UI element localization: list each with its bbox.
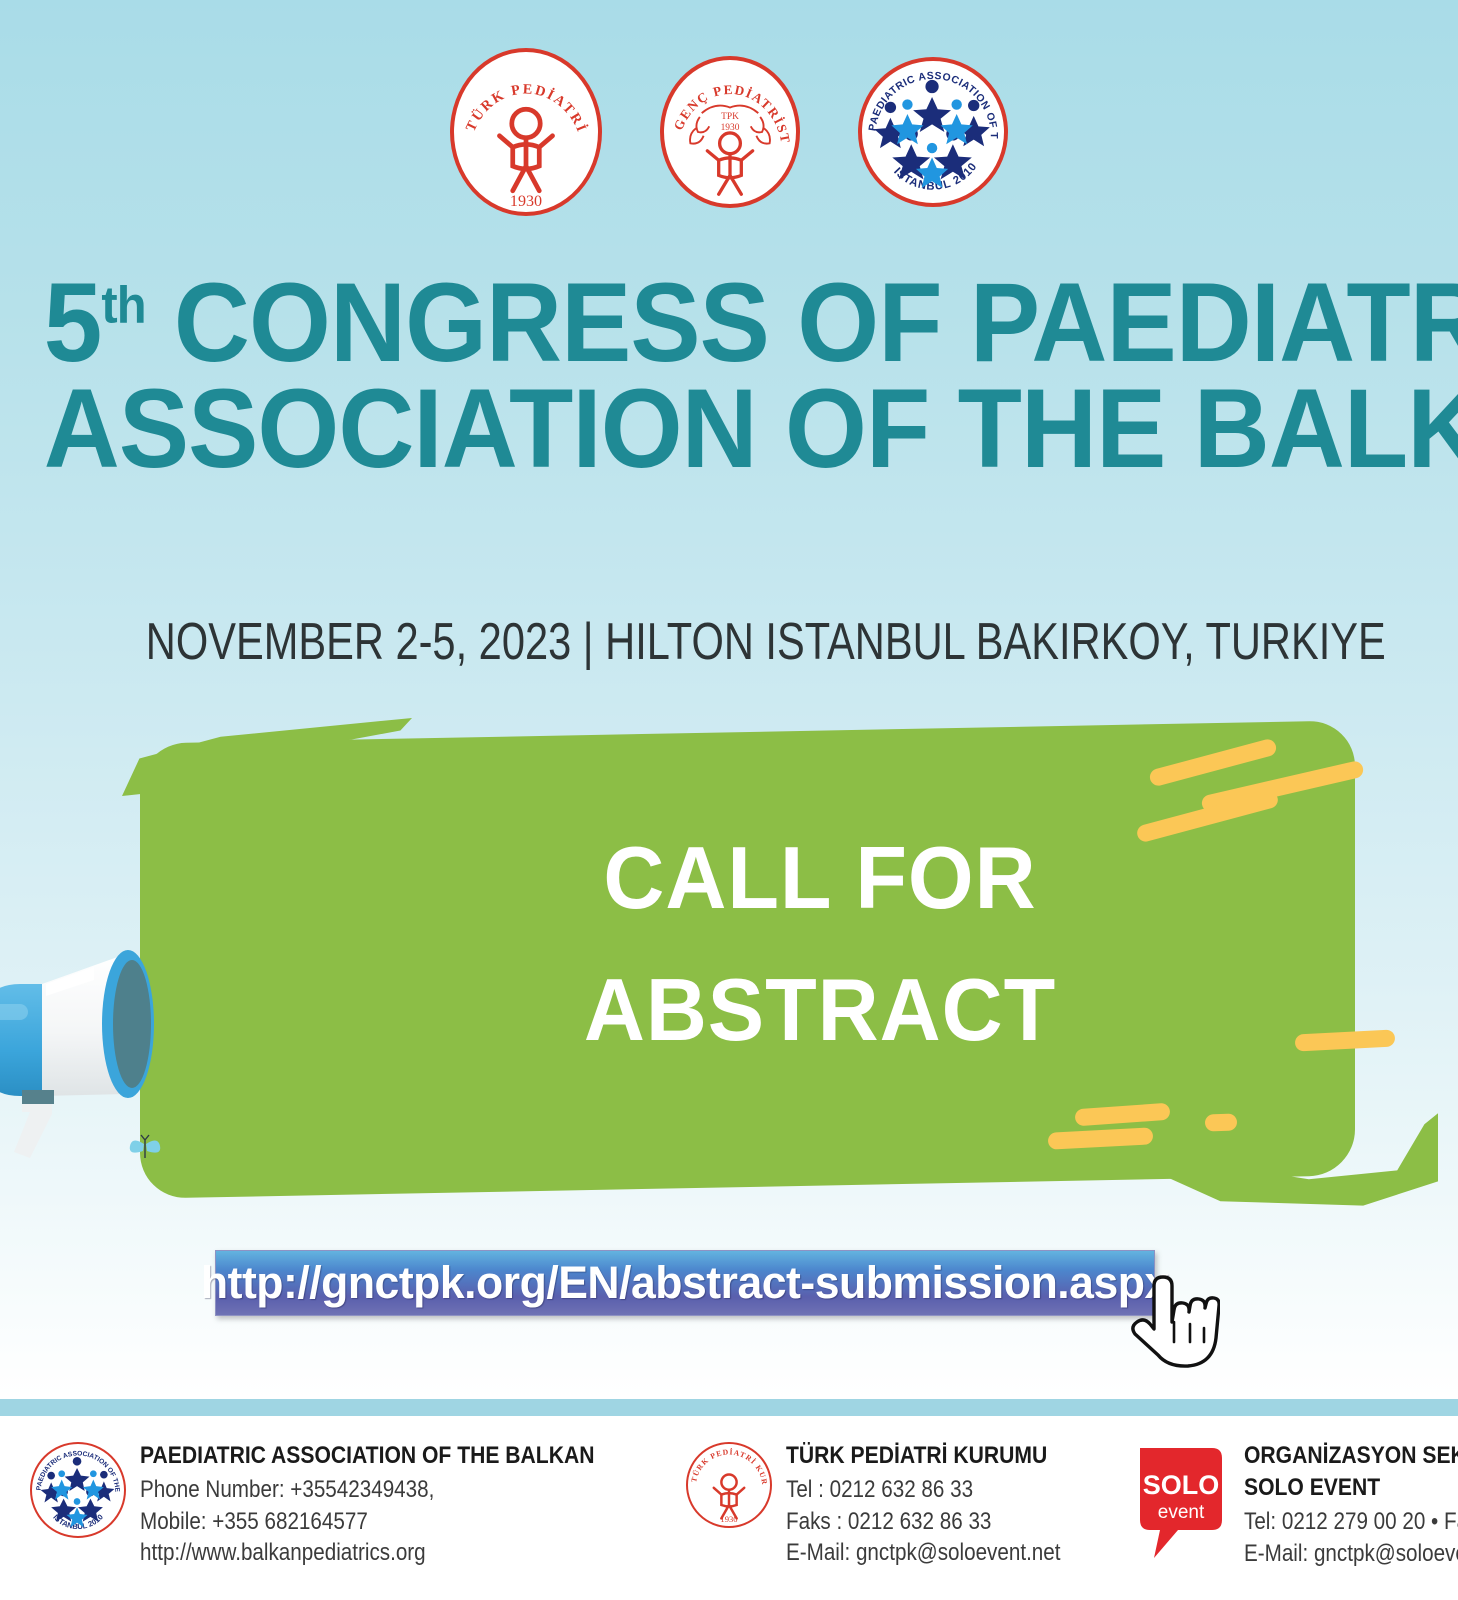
footer-logo-tpk: TÜRK PEDİATRİ KURUMU 1930 xyxy=(686,1442,772,1528)
bubble-headline: CALL FOR ABSTRACT xyxy=(570,812,1069,1076)
footer-heading: TÜRK PEDİATRİ KURUMU xyxy=(786,1442,1067,1470)
footer-column-solo: SOLO event ORGANİZASYON SEKRETARYASI SOL… xyxy=(1134,1416,1458,1569)
ordinal-suffix: th xyxy=(101,277,145,335)
genc-pediatristler-logo: GENÇ PEDİATRİSTLER TPK 1930 xyxy=(660,56,800,208)
butterfly-icon xyxy=(128,1128,162,1162)
child-figure-icon: TÜRK PEDİATRİ KURUMU 1930 xyxy=(454,52,598,212)
solo-logo-text-1: SOLO xyxy=(1142,1470,1219,1500)
svg-text:1930: 1930 xyxy=(721,1514,738,1524)
footer-logo-balkan: PAEDIATRIC ASSOCIATION OF THE BALKAN IST… xyxy=(30,1442,126,1538)
footer-line[interactable]: E-Mail: gnctpk@soloevent.net xyxy=(786,1537,1061,1569)
footer-line: Tel : 0212 632 86 33 xyxy=(786,1474,1061,1506)
footer-line[interactable]: http://www.balkanpediatrics.org xyxy=(140,1537,584,1569)
section-divider xyxy=(0,1399,1458,1416)
event-date-venue: NOVEMBER 2-5, 2023 | HILTON ISTANBUL BAK… xyxy=(146,612,1312,672)
title-line-1: 5th CONGRESS OF PAEDIATRIC xyxy=(44,270,1415,376)
svg-text:1930: 1930 xyxy=(510,193,542,210)
footer-line: Mobile: +355 682164577 xyxy=(140,1506,584,1538)
poster-root: TÜRK PEDİATRİ KURUMU 1930 GENÇ PEDİATRİS… xyxy=(0,0,1458,1600)
svg-text:TÜRK PEDİATRİ KURUMU: TÜRK PEDİATRİ KURUMU xyxy=(454,52,592,141)
footer-heading-secondary: SOLO EVENT xyxy=(1244,1474,1458,1502)
svg-text:TPK: TPK xyxy=(721,112,739,122)
child-figure-icon: TÜRK PEDİATRİ KURUMU 1930 xyxy=(688,1444,770,1526)
accent-dash xyxy=(1205,1113,1238,1131)
svg-text:TÜRK PEDİATRİ KURUMU: TÜRK PEDİATRİ KURUMU xyxy=(688,1444,769,1486)
title-line-2: ASSOCIATION OF THE BALKAN xyxy=(44,376,1415,482)
footer-line: Phone Number: +35542349438, xyxy=(140,1474,584,1506)
page-title: 5th CONGRESS OF PAEDIATRIC ASSOCIATION O… xyxy=(0,270,1458,483)
megaphone-icon xyxy=(0,868,276,1168)
pointing-hand-cursor-icon xyxy=(1128,1272,1220,1377)
footer-heading: PAEDIATRIC ASSOCIATION OF THE BALKAN xyxy=(140,1442,594,1470)
child-figure-wreath-icon: GENÇ PEDİATRİSTLER TPK 1930 xyxy=(664,60,796,204)
footer-heading: ORGANİZASYON SEKRETARYASI xyxy=(1244,1442,1458,1470)
footer-line[interactable]: E-Mail: gnctpk@soloevent.net xyxy=(1244,1538,1458,1570)
logo-row: TÜRK PEDİATRİ KURUMU 1930 GENÇ PEDİATRİS… xyxy=(0,48,1458,216)
bubble-line-2: ABSTRACT xyxy=(570,944,1069,1076)
solo-logo-text-2: event xyxy=(1157,1502,1204,1523)
footer-line: Faks : 0212 632 86 33 xyxy=(786,1506,1061,1538)
star-people-icon: PAEDIATRIC ASSOCIATION OF THE BALKAN IST… xyxy=(32,1444,124,1536)
footer-text-tpk: TÜRK PEDİATRİ KURUMU Tel : 0212 632 86 3… xyxy=(786,1442,1105,1569)
paediatric-association-balkan-logo: PAEDIATRIC ASSOCIATION OF THE BALKAN IST… xyxy=(858,57,1008,207)
abstract-submission-url[interactable]: http://gnctpk.org/EN/abstract-submission… xyxy=(201,1257,1169,1309)
abstract-submission-link-banner[interactable]: http://gnctpk.org/EN/abstract-submission… xyxy=(215,1250,1155,1316)
footer: PAEDIATRIC ASSOCIATION OF THE BALKAN IST… xyxy=(0,1416,1458,1600)
footer-text-solo: ORGANİZASYON SEKRETARYASI SOLO EVENT Tel… xyxy=(1244,1442,1458,1569)
footer-column-tpk: TÜRK PEDİATRİ KURUMU 1930 TÜRK PEDİATRİ … xyxy=(686,1416,1105,1569)
footer-logo-solo: SOLO event xyxy=(1134,1442,1230,1560)
star-people-icon: PAEDIATRIC ASSOCIATION OF THE BALKAN IST… xyxy=(862,61,1004,203)
footer-column-balkan: PAEDIATRIC ASSOCIATION OF THE BALKAN IST… xyxy=(30,1416,656,1569)
solo-event-logo: SOLO event xyxy=(1134,1442,1230,1560)
bubble-line-1: CALL FOR xyxy=(570,812,1069,944)
footer-text-balkan: PAEDIATRIC ASSOCIATION OF THE BALKAN Pho… xyxy=(140,1442,656,1569)
turk-pediatri-kurumu-logo: TÜRK PEDİATRİ KURUMU 1930 xyxy=(450,48,602,216)
footer-line: Tel: 0212 279 00 20 • Faks: 0212 279 00 … xyxy=(1244,1506,1458,1538)
